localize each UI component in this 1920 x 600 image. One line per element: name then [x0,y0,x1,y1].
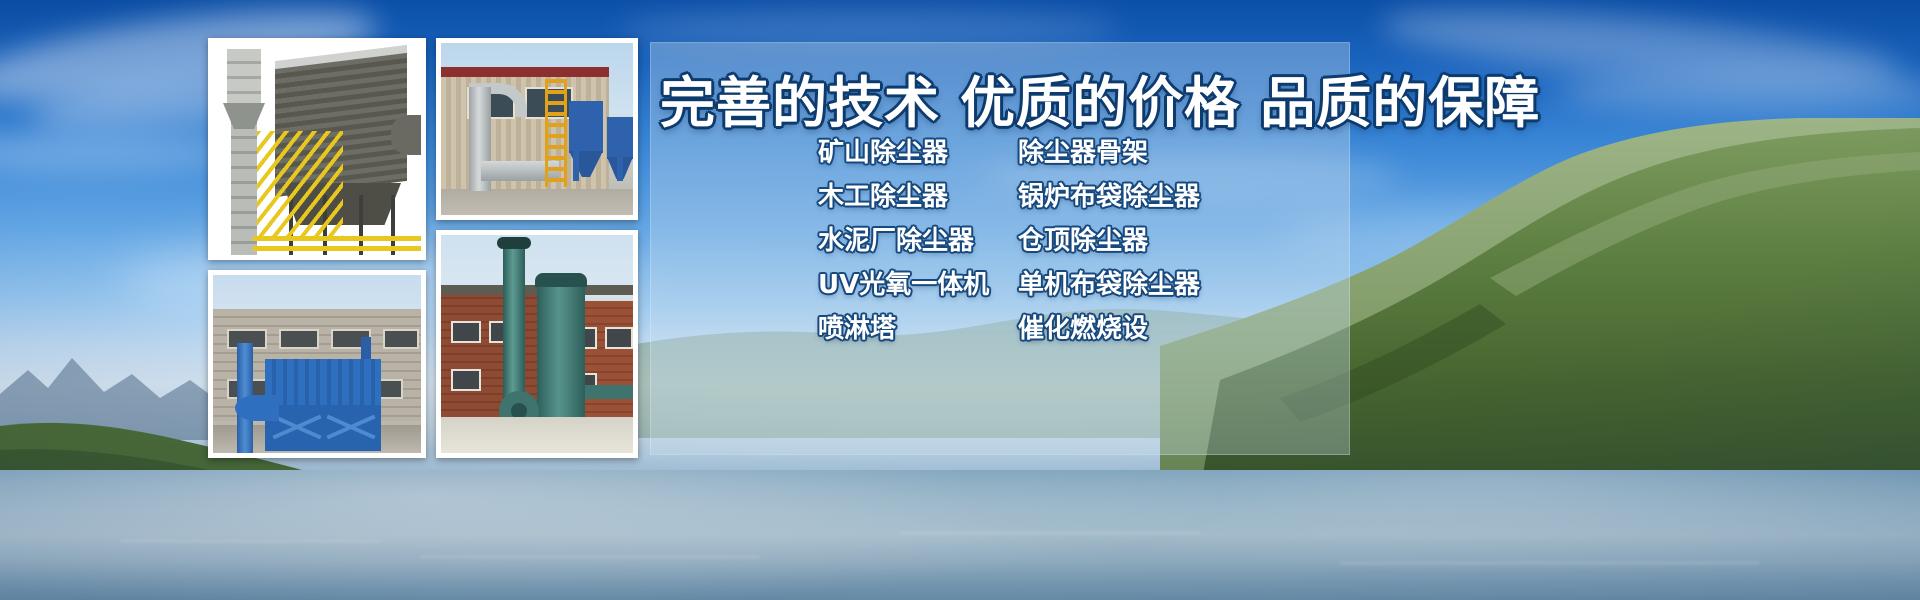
photo-baghouse-grey-stack[interactable] [208,38,426,260]
product-row: 矿山除尘器 除尘器骨架 [818,132,1338,176]
product-name[interactable]: 单机布袋除尘器 [1018,264,1200,301]
product-name[interactable]: 矿山除尘器 [818,132,1018,169]
product-name[interactable]: 催化燃烧设 [1018,308,1148,345]
photo-workshop-duct-ladder[interactable] [436,38,638,220]
product-name[interactable]: 除尘器骨架 [1018,132,1148,169]
banner-headline: 完善的技术 优质的价格 品质的保障 [660,58,1350,138]
promo-banner: 完善的技术 优质的价格 品质的保障 矿山除尘器 除尘器骨架 木工除尘器 锅炉布袋… [0,0,1920,600]
product-name[interactable]: 锅炉布袋除尘器 [1018,176,1200,213]
product-row: 喷淋塔 催化燃烧设 [818,308,1338,352]
photo-brick-plant-green-stack[interactable] [436,230,638,458]
product-row: 水泥厂除尘器 仓顶除尘器 [818,220,1338,264]
photo-collage [208,38,638,458]
product-name[interactable]: 木工除尘器 [818,176,1018,213]
photo-blue-cartridge-collector[interactable] [208,270,426,458]
product-name[interactable]: 仓顶除尘器 [1018,220,1148,257]
product-name[interactable]: 水泥厂除尘器 [818,220,1018,257]
product-row: UV光氧一体机 单机布袋除尘器 [818,264,1338,308]
product-row: 木工除尘器 锅炉布袋除尘器 [818,176,1338,220]
product-list: 矿山除尘器 除尘器骨架 木工除尘器 锅炉布袋除尘器 水泥厂除尘器 仓顶除尘器 U… [818,132,1338,352]
product-name[interactable]: 喷淋塔 [818,308,1018,345]
product-name[interactable]: UV光氧一体机 [818,264,1018,301]
